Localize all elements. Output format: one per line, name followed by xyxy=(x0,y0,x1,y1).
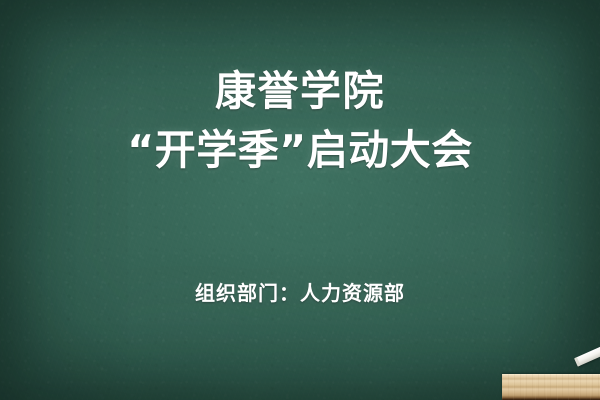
chalk-ledge-woodgrain xyxy=(502,374,600,400)
slide-title: 康誉学院 “开学季”启动大会 xyxy=(0,62,600,180)
chalk-speckle-texture xyxy=(0,0,600,400)
title-line-2: “开学季”启动大会 xyxy=(0,121,600,180)
chalk-streak-texture xyxy=(0,0,600,400)
chalk-smudge-texture xyxy=(0,0,600,400)
board-vignette xyxy=(0,0,600,400)
slide-subtitle: 组织部门：人力资源部 xyxy=(0,277,600,306)
chalkboard-title-slide: 康誉学院 “开学季”启动大会 组织部门：人力资源部 xyxy=(0,0,600,400)
chalk-stick-icon xyxy=(574,346,600,366)
chalk-ledge-icon xyxy=(502,374,600,400)
title-line-1: 康誉学院 xyxy=(0,62,600,121)
